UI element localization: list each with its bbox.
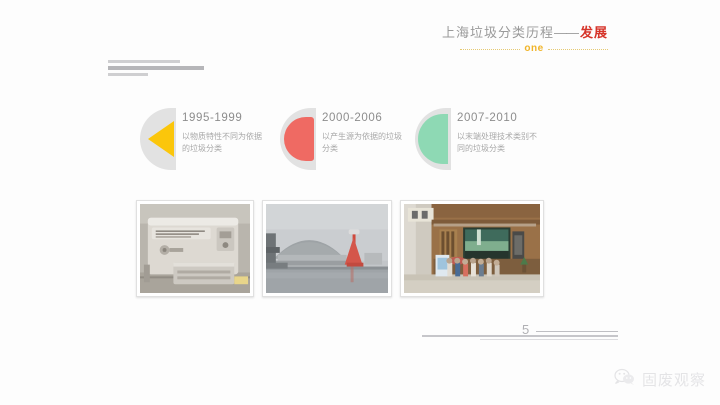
timeline-text-block: 2000-2006 以产生源为依据的垃圾分类 — [322, 108, 408, 156]
half-disc-yellow-wedge-icon — [140, 108, 176, 170]
timeline-date: 2000-2006 — [322, 112, 408, 124]
timeline-text-block: 1995-1999 以物质特性不同为依据的垃圾分类 — [182, 108, 268, 156]
footer-rule-right — [536, 331, 618, 332]
timeline-date: 1995-1999 — [182, 112, 268, 124]
half-disc-red-shape-icon — [280, 108, 316, 170]
timeline-description: 以产生源为依据的垃圾分类 — [322, 131, 408, 156]
photo-row — [136, 200, 552, 297]
page-number: 5 — [522, 322, 529, 337]
decorative-bars — [108, 60, 204, 79]
title-main-text: 上海垃圾分类历程 — [442, 25, 554, 40]
footer-rule-long — [422, 335, 618, 337]
timeline-text-block: 2007-2010 以末端处理技术类别不同的垃圾分类 — [457, 108, 543, 156]
timeline-description: 以物质特性不同为依据的垃圾分类 — [182, 131, 268, 156]
photo-waste-treatment-machine — [136, 200, 254, 297]
slide-header: 上海垃圾分类历程——发展 one — [348, 22, 608, 55]
watermark-text: 固废观察 — [642, 369, 706, 390]
watermark: 固废观察 — [614, 368, 706, 391]
decorative-bar-3 — [108, 73, 148, 76]
half-disc-green-shape-icon — [415, 108, 451, 170]
photo-landfill-dome-crane — [262, 200, 392, 297]
title-dash: —— — [554, 25, 578, 40]
footer-rule-short — [480, 339, 618, 340]
title-accent-text: 发展 — [580, 25, 608, 40]
timeline-date: 2007-2010 — [457, 112, 543, 124]
photo-facility-entrance-visitors-image — [404, 204, 540, 293]
dotted-rule-right — [548, 49, 608, 50]
timeline-description: 以末端处理技术类别不同的垃圾分类 — [457, 131, 543, 156]
photo-facility-entrance-visitors — [400, 200, 544, 297]
subtitle-row: one — [460, 43, 608, 55]
wechat-icon — [614, 368, 636, 391]
photo-landfill-dome-crane-image — [266, 204, 388, 293]
page-title: 上海垃圾分类历程——发展 — [348, 22, 608, 41]
presentation-slide: 上海垃圾分类历程——发展 one 1995-1999 以物质特性不同为依据的垃圾… — [0, 0, 720, 405]
dotted-rule-left — [460, 49, 520, 50]
decorative-bar-1 — [108, 60, 180, 63]
timeline-item-1995-1999: 1995-1999 以物质特性不同为依据的垃圾分类 — [140, 108, 280, 170]
page-footer: 5 — [418, 322, 618, 344]
subtitle-label: one — [520, 44, 547, 54]
timeline-item-2000-2006: 2000-2006 以产生源为依据的垃圾分类 — [280, 108, 415, 170]
photo-waste-treatment-machine-image — [140, 204, 250, 293]
decorative-bar-2 — [108, 66, 204, 70]
timeline-list: 1995-1999 以物质特性不同为依据的垃圾分类 2000-2006 以产生源… — [140, 108, 640, 170]
timeline-item-2007-2010: 2007-2010 以末端处理技术类别不同的垃圾分类 — [415, 108, 565, 170]
